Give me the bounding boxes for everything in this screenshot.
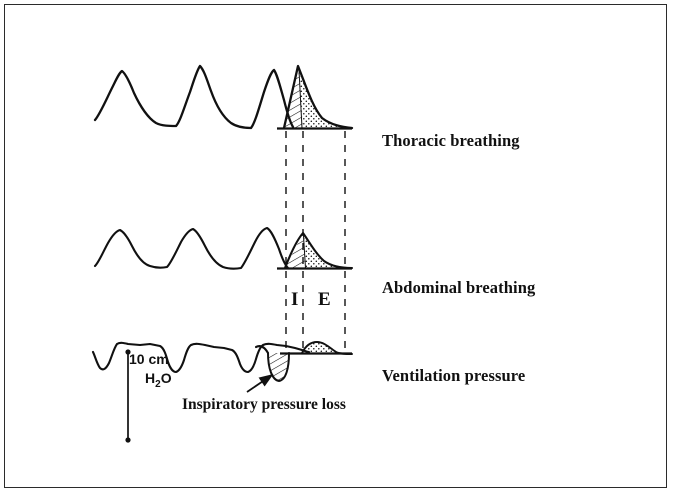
phase-dashed-lines: [286, 131, 345, 348]
calibration-scale-bottom-marker: [125, 437, 130, 442]
thoracic-waveform-line: [95, 66, 293, 128]
phase-marker-expiration: E: [318, 289, 331, 311]
calibration-scale-value: 10 cm: [129, 351, 169, 367]
phase-marker-inspiration: I: [291, 289, 298, 311]
trace-label-ventilation: Ventilation pressure: [382, 366, 525, 386]
annotation-inspiratory-pressure-loss: Inspiratory pressure loss: [182, 396, 346, 414]
trace-label-thoracic: Thoracic breathing: [382, 131, 520, 151]
inspiratory-pressure-loss-arrow: [247, 375, 272, 392]
scale-unit-prefix: H: [145, 370, 155, 386]
waveform-canvas: [0, 0, 673, 494]
abdominal-trace-group: [95, 228, 352, 269]
thoracic-trace-group: [95, 66, 352, 129]
trace-label-abdominal: Abdominal breathing: [382, 278, 535, 298]
scale-unit-suffix: O: [161, 370, 172, 386]
calibration-scale-unit: H2O: [145, 370, 172, 390]
respiratory-waveform-figure: Thoracic breathing Abdominal breathing V…: [0, 0, 673, 494]
abdominal-waveform-line: [95, 228, 288, 269]
